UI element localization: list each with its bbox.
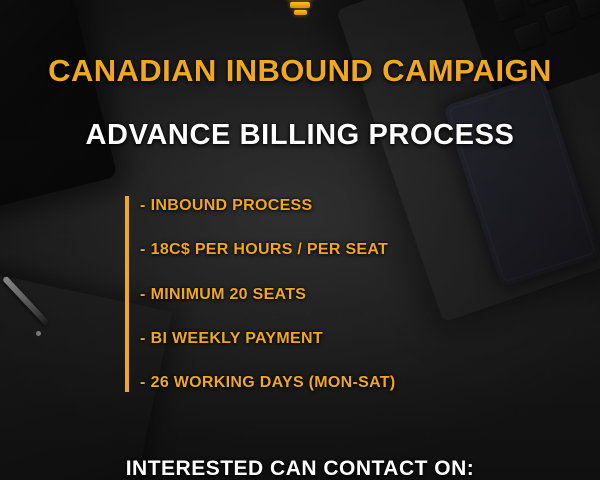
funnel-icon-bar <box>290 2 310 8</box>
bullet-dash: - <box>140 196 146 215</box>
bullet-dash: - <box>140 373 146 392</box>
list-item-label: BI WEEKLY PAYMENT <box>151 329 323 348</box>
list-item-label: INBOUND PROCESS <box>151 196 313 215</box>
promotional-poster: CANADIAN INBOUND CAMPAIGN ADVANCE BILLIN… <box>0 0 600 480</box>
bullet-dash: - <box>140 240 146 259</box>
poster-headline: CANADIAN INBOUND CAMPAIGN <box>0 54 600 88</box>
list-item-label: 18C$ PER HOURS / PER SEAT <box>151 240 388 259</box>
list-item-label: 26 WORKING DAYS (MON-SAT) <box>151 373 396 392</box>
poster-subheadline: ADVANCE BILLING PROCESS <box>0 119 600 152</box>
list-item: - 26 WORKING DAYS (MON-SAT) <box>140 373 455 392</box>
list-item: - MINIMUM 20 SEATS <box>140 285 455 304</box>
poster-content: CANADIAN INBOUND CAMPAIGN ADVANCE BILLIN… <box>0 0 600 480</box>
list-item: - 18C$ PER HOURS / PER SEAT <box>140 240 455 259</box>
funnel-icon <box>283 0 317 28</box>
contact-call-to-action: INTERESTED CAN CONTACT ON: <box>0 457 600 480</box>
bullet-dash: - <box>140 329 146 348</box>
list-item: - INBOUND PROCESS <box>140 196 455 215</box>
list-item: - BI WEEKLY PAYMENT <box>140 329 455 348</box>
funnel-icon-bar <box>294 10 307 15</box>
list-item-label: MINIMUM 20 SEATS <box>151 285 307 304</box>
bullet-dash: - <box>140 285 146 304</box>
bullet-list: - INBOUND PROCESS - 18C$ PER HOURS / PER… <box>125 196 455 392</box>
